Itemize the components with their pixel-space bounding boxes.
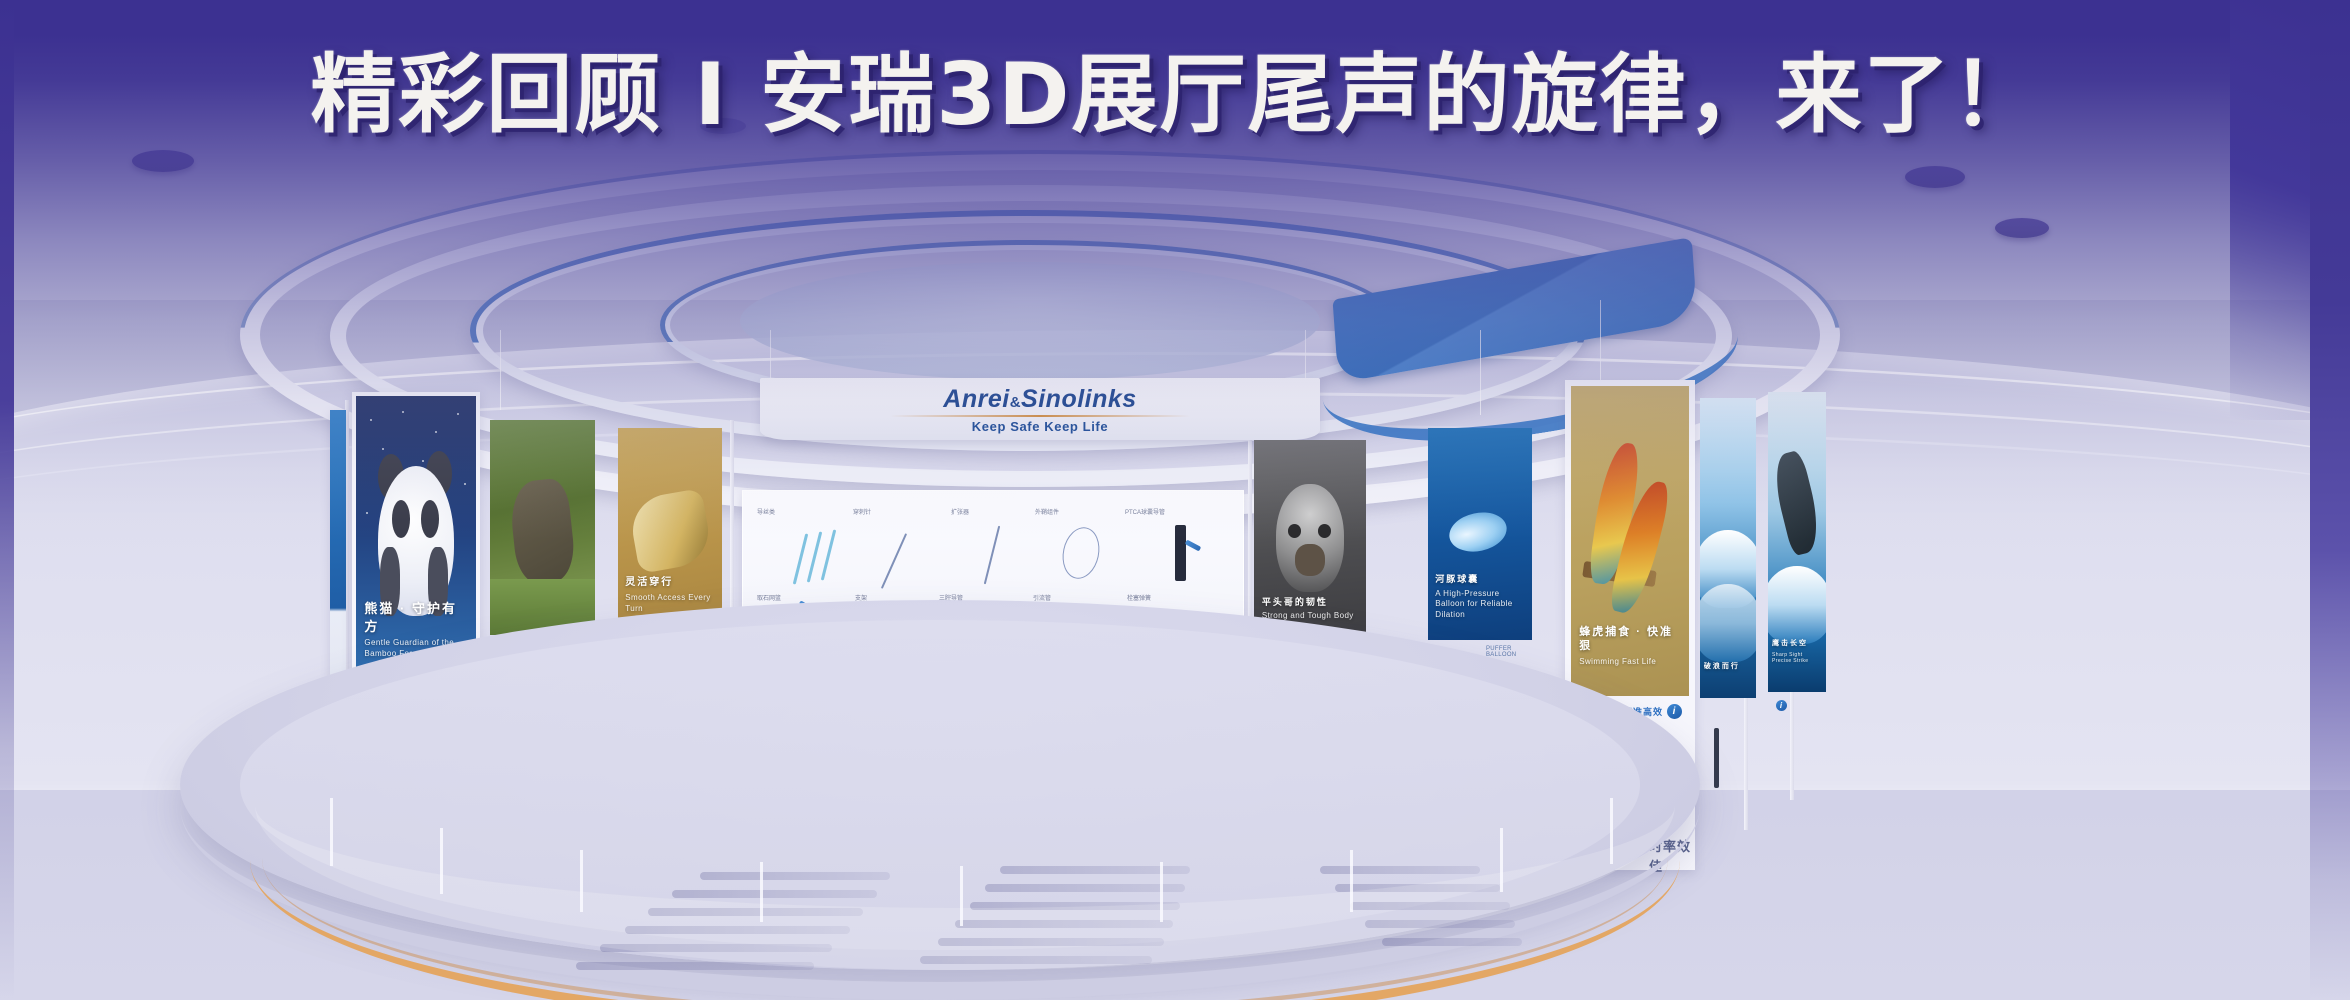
brand-sign: Anrei&Sinolinks Keep Safe Keep Life — [760, 378, 1320, 440]
rail-post — [330, 798, 333, 866]
badger-eye-left — [1288, 524, 1301, 538]
product-label: 穿刺针 — [853, 507, 871, 516]
product-item — [793, 533, 808, 584]
poster-caption-ocean: 破浪而行 — [1704, 662, 1752, 671]
rail-post — [760, 862, 763, 922]
exhibit-subtitle-puffer: PUFFER BALLOON — [1486, 646, 1540, 658]
instrument-item — [1714, 728, 1719, 788]
eagle-silhouette — [1768, 449, 1825, 556]
rail-post — [1610, 798, 1613, 864]
fish-silhouette — [627, 488, 714, 574]
panda-eye-right — [421, 500, 439, 538]
poster-goldfish[interactable]: 灵活穿行 Smooth Access Every Turn — [618, 428, 722, 633]
rail-post — [440, 828, 443, 894]
poster-honey-badger[interactable]: 平头哥的韧性 Strong and Tough Body — [1254, 440, 1366, 640]
product-item — [1185, 540, 1201, 552]
ceiling-center-disc — [740, 262, 1320, 380]
product-label: 取石网篮 — [757, 593, 781, 602]
rail-post — [960, 866, 963, 926]
product-item — [984, 526, 1000, 585]
product-item — [881, 533, 907, 589]
wave-shape — [1700, 584, 1756, 662]
product-item — [807, 531, 822, 582]
product-label: 扩张器 — [951, 507, 969, 516]
brand-underline — [890, 415, 1190, 417]
wave-shape — [1768, 566, 1826, 644]
product-label: 导丝类 — [757, 507, 775, 516]
exhibit-panel-ocean[interactable]: 破浪而行 — [1700, 398, 1760, 828]
rail-post — [1160, 862, 1163, 922]
exhibit-panel-eagle[interactable]: 鹰击长空 Sharp Sight Precise Strike i — [1768, 392, 1830, 832]
rail-post — [580, 850, 583, 912]
ceiling-light-2 — [1905, 166, 1965, 188]
rail-post — [1500, 828, 1503, 892]
ceiling-light-3 — [1995, 218, 2049, 238]
hanging-wire — [500, 330, 501, 410]
product-label: 栓塞弹簧 — [1127, 593, 1151, 602]
product-item — [1175, 525, 1186, 581]
hanging-wire — [1480, 330, 1481, 415]
panda-eye-left — [392, 500, 410, 538]
poster-ocean-wave[interactable]: 破浪而行 — [1700, 398, 1756, 698]
platform-orange-rail-shadow — [262, 700, 1668, 1000]
poster-caption-eagle: 鹰击长空 Sharp Sight Precise Strike — [1772, 639, 1822, 665]
poster-eagle[interactable]: 鹰击长空 Sharp Sight Precise Strike — [1768, 392, 1826, 692]
info-icon: i — [1667, 704, 1682, 719]
page-title: 精彩回顾 I 安瑞3D展厅尾声的旋律，来了！ — [0, 24, 2350, 149]
brand-tagline: Keep Safe Keep Life — [760, 419, 1320, 434]
poster-caption-bee-eater: 蜂虎捕食 · 快准狠 Swimming Fast Life — [1579, 625, 1681, 668]
poster-caption-puffer: 河豚球囊 A High-Pressure Balloon for Reliabl… — [1435, 573, 1524, 621]
poster-puffer-balloon[interactable]: 河豚球囊 A High-Pressure Balloon for Reliabl… — [1428, 428, 1532, 640]
brand-name: Anrei&Sinolinks — [760, 385, 1320, 414]
kangaroo-silhouette — [508, 477, 577, 586]
product-label: PTCA球囊导管 — [1125, 507, 1165, 516]
product-item — [821, 529, 836, 580]
rail-post — [1350, 850, 1353, 912]
balloon-catheter — [1445, 507, 1510, 556]
info-icon: i — [1776, 700, 1787, 711]
poster-kangaroo[interactable] — [490, 420, 595, 635]
exhibition-hall-banner: 熊猫 · 守护有方 Gentle Guardian of the Bamboo … — [0, 0, 2350, 1000]
hanging-wire — [1600, 300, 1601, 390]
product-label: 外鞘组件 — [1035, 507, 1059, 516]
poster-bee-eater[interactable]: 蜂虎捕食 · 快准狠 Swimming Fast Life — [1571, 386, 1689, 696]
brand-badge-eagle: i — [1776, 700, 1787, 711]
badger-snout — [1295, 544, 1324, 576]
product-item — [1058, 524, 1104, 582]
ceiling-light-1 — [132, 150, 194, 172]
